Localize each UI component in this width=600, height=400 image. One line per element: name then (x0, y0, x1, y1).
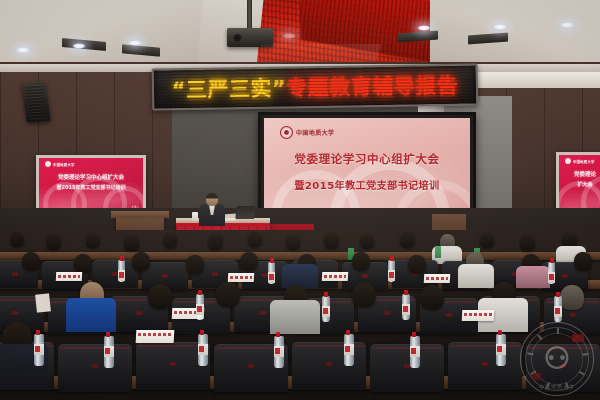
audience-head (22, 252, 40, 271)
audience-head (480, 233, 494, 248)
audience-head (148, 284, 172, 309)
slide-title-line-2: 暨2015年教工党支部书记培训 (264, 177, 470, 192)
led-banner-rest-text: 专题教育辅导报告 (286, 74, 458, 101)
bottle-label (388, 270, 395, 281)
water-bottle (496, 334, 506, 366)
chair-trim (60, 347, 130, 349)
slide-logo-text: 中国地质大学 (296, 128, 334, 137)
audience-chair (448, 342, 522, 390)
audience-head (400, 232, 415, 248)
bottle-label (554, 306, 562, 317)
audience-area (0, 230, 600, 400)
water-bottle (268, 262, 275, 284)
bottle-label (34, 344, 44, 355)
chair-trim (528, 347, 598, 349)
slide-university-logo: 中国地质大学 (280, 126, 334, 139)
ceiling-downlight-1 (16, 47, 30, 53)
led-banner-text: “三严三实”专题教育辅导报告 (171, 70, 458, 104)
left-lcd-logo: 中国地质大学 (45, 161, 75, 167)
left-lcd-logo-text: 中国地质大学 (53, 162, 75, 167)
water-bottle (34, 334, 44, 366)
audience-head (208, 234, 223, 250)
audience-torso (270, 300, 320, 334)
audience-head (574, 252, 592, 271)
bottle-label (268, 272, 275, 283)
projector-mount-pole (247, 0, 252, 30)
university-emblem-icon (565, 158, 571, 164)
bottle-label (274, 346, 284, 357)
water-cup-on-table (192, 212, 198, 221)
audience-head (132, 252, 150, 271)
led-scrolling-banner: “三严三实”专题教育辅导报告 (152, 63, 479, 110)
water-bottle (554, 296, 562, 322)
speaker-head (206, 193, 218, 206)
left-lcd-line-1: 党委理论学习中心组扩大会 (39, 173, 143, 181)
audience-head (248, 232, 262, 247)
ceiling-downlight-6 (560, 22, 574, 28)
bottle-label (402, 304, 410, 315)
audience-head (163, 233, 177, 248)
bottle-label (344, 344, 354, 355)
audience-head (124, 235, 139, 251)
ceiling-downlight-7 (282, 33, 296, 39)
water-bottle (196, 294, 204, 320)
right-lcd-logo-text: 中国地质大学 (573, 159, 595, 164)
chair-trim (450, 345, 520, 347)
audience-head (286, 235, 300, 250)
bottle-label (548, 272, 555, 283)
bottle-label (322, 306, 330, 317)
water-bottle (104, 336, 114, 368)
audience-chair (58, 344, 132, 392)
green-card-marker (435, 246, 441, 258)
audience-head (408, 255, 426, 274)
audience-chair (526, 344, 600, 392)
ceiling-downlight-5 (493, 24, 507, 30)
podium-top-surface (111, 211, 169, 218)
audience-chair (292, 342, 366, 390)
projector-lens-icon (233, 34, 242, 42)
audience-head (352, 282, 376, 307)
bottle-label (496, 344, 506, 355)
audience-torso (458, 264, 494, 288)
water-bottle (118, 260, 125, 282)
audience-head (352, 252, 370, 271)
audience-chair (370, 344, 444, 392)
bottle-label (118, 270, 125, 281)
audience-head-gray (560, 285, 584, 310)
audience-torso (66, 298, 116, 332)
right-lcd-line-2: 扩大会 (559, 181, 600, 188)
ceiling-downlight-3 (128, 40, 142, 46)
water-bottle (548, 262, 555, 284)
chair-trim (372, 347, 442, 349)
left-lcd-display: 中国地质大学 党委理论学习中心组扩大会 暨2015年教工党支部书记培训 主讲人 (36, 155, 146, 214)
speaker-person (199, 193, 225, 225)
conference-hall-photo: “三严三实”专题教育辅导报告 中国地质大学 党委理论学习中心组扩大会 暨2015… (0, 0, 600, 400)
table-name-card (56, 272, 82, 281)
audience-head (520, 235, 535, 251)
water-bottle (410, 336, 420, 368)
water-bottle (344, 334, 354, 366)
university-emblem-icon (280, 126, 293, 139)
audience-head (420, 285, 444, 310)
water-bottle (322, 296, 330, 322)
right-lcd-line-1: 党委理论 (559, 170, 600, 178)
water-bottle (402, 294, 410, 320)
audience-head (10, 232, 24, 247)
left-lcd-line-2: 暨2015年教工党支部书记培训 (39, 184, 143, 191)
table-name-card (424, 274, 450, 283)
audience-head (324, 233, 339, 249)
table-name-card (228, 273, 254, 282)
audience-head (186, 255, 204, 274)
bottle-label (198, 344, 208, 355)
bottle-label (410, 346, 420, 357)
audience-head (46, 234, 61, 250)
audience-head (216, 282, 240, 307)
audience-head (360, 234, 374, 249)
table-name-card (322, 272, 348, 281)
led-banner-quoted-text: “三严三实” (172, 76, 287, 102)
ceiling-downlight-2 (72, 43, 86, 49)
ceiling-projector (227, 28, 273, 47)
audience-torso (282, 264, 318, 288)
slide-title-line-1: 党委理论学习中心组扩大会 (264, 151, 470, 167)
water-bottle (198, 334, 208, 366)
left-lcd-screen: 中国地质大学 党委理论学习中心组扩大会 暨2015年教工党支部书记培训 主讲人 (39, 158, 143, 211)
laptop-on-table (235, 206, 255, 219)
ceiling-downlight-4 (417, 25, 431, 31)
audience-head (74, 254, 92, 273)
water-bottle (388, 260, 395, 282)
speaker-grill (25, 85, 48, 120)
right-lcd-logo: 中国地质大学 (565, 158, 595, 164)
bottle-label (104, 346, 114, 357)
bottle-label (196, 304, 204, 315)
university-emblem-icon (45, 161, 51, 167)
water-bottle (274, 336, 284, 368)
table-name-card (462, 310, 495, 321)
audience-head (86, 233, 100, 248)
audience-head (240, 252, 258, 271)
table-name-card (136, 330, 175, 343)
handout-paper (35, 293, 51, 312)
audience-torso (516, 266, 550, 288)
